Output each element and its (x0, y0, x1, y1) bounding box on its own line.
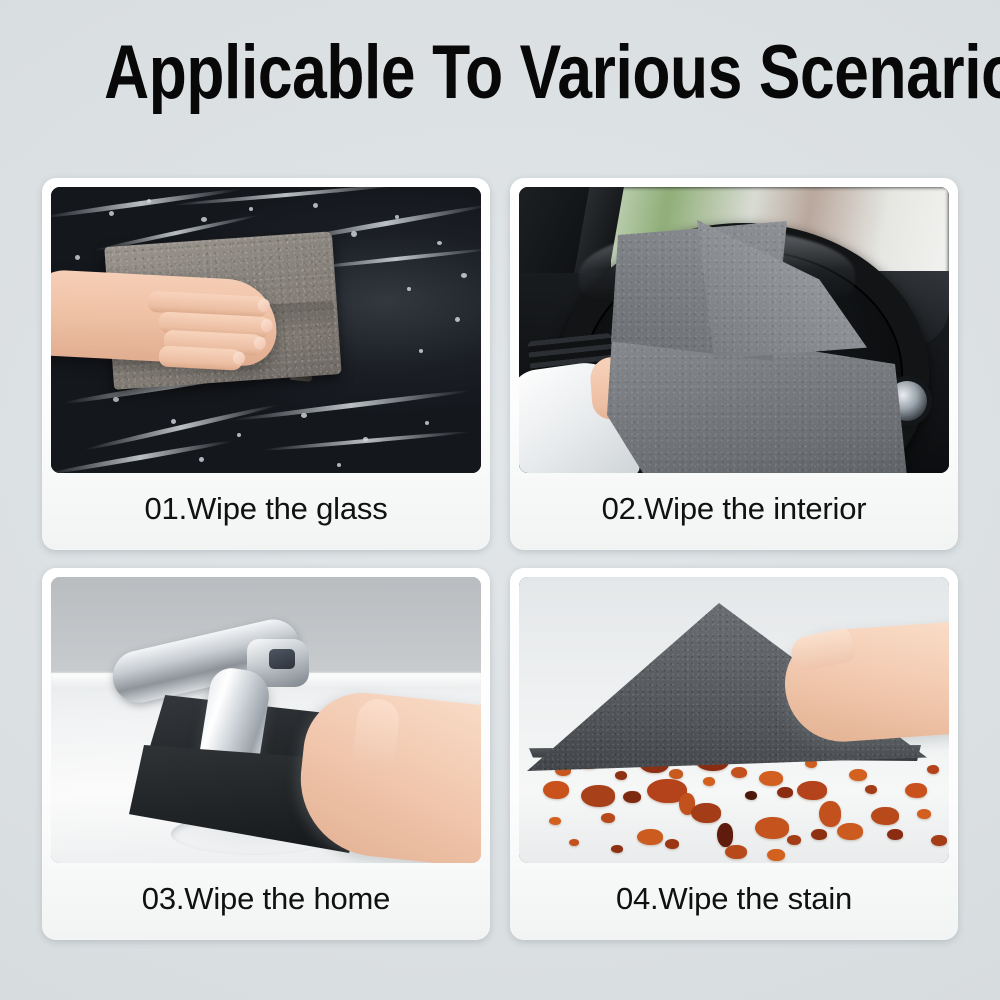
hand (51, 269, 279, 368)
scenario-caption-04: 04.Wipe the stain (519, 863, 949, 935)
scenario-card-03[interactable]: 03.Wipe the home (42, 568, 490, 940)
scenario-image-wipe-the-home (51, 577, 481, 863)
scenario-image-wipe-the-glass (51, 187, 481, 473)
page-title: Applicable To Various Scenarios (104, 34, 1000, 112)
scenario-image-wipe-the-stain (519, 577, 949, 863)
scenario-grid: 01.Wipe the glass (42, 178, 958, 933)
scenario-caption-02: 02.Wipe the interior (519, 473, 949, 545)
page-title-container: Applicable To Various Scenarios (0, 34, 1000, 112)
scenario-caption-01: 01.Wipe the glass (51, 473, 481, 545)
scenario-caption-03: 03.Wipe the home (51, 863, 481, 935)
scenario-card-04[interactable]: 04.Wipe the stain (510, 568, 958, 940)
scenario-card-01[interactable]: 01.Wipe the glass (42, 178, 490, 550)
faucet-outlet (269, 649, 295, 669)
scenario-image-wipe-the-interior (519, 187, 949, 473)
scenario-card-02[interactable]: 02.Wipe the interior (510, 178, 958, 550)
promo-page: Applicable To Various Scenarios (0, 0, 1000, 1000)
